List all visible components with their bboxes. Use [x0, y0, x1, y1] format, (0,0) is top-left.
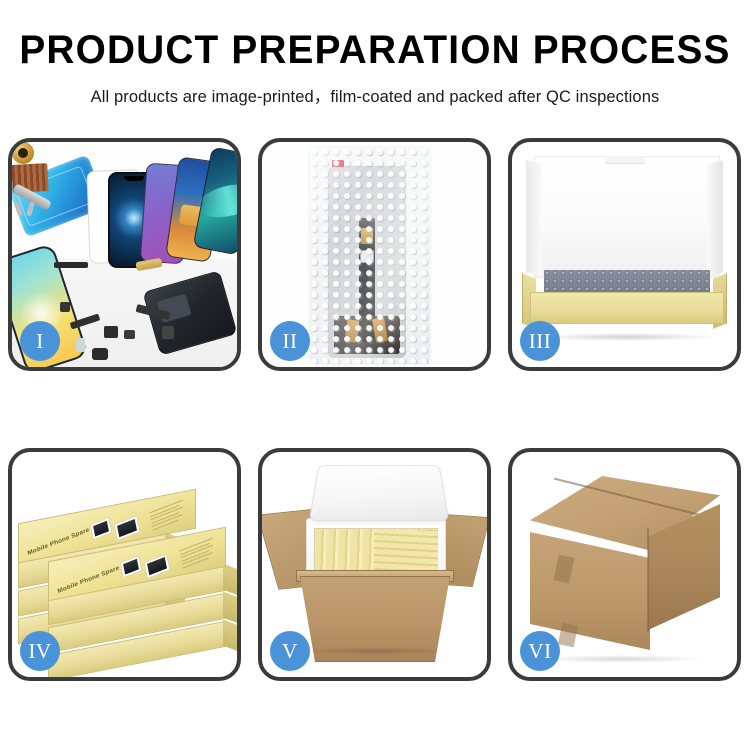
step-badge-5: V [270, 631, 310, 671]
product-preparation-page: PRODUCT PREPARATION PROCESS All products… [0, 0, 750, 750]
box-window-right [144, 553, 171, 579]
process-step-panel-1[interactable]: I [8, 138, 241, 371]
box-window-left [120, 555, 143, 579]
yellow-box-tray [530, 292, 724, 324]
vibration-motor-part [12, 142, 34, 164]
page-subtitle: All products are image-printed，film-coat… [0, 83, 750, 107]
box-spec-lines [149, 498, 190, 533]
connector-part [162, 326, 174, 339]
box-shadow [536, 333, 718, 341]
box-window-left [90, 517, 113, 541]
carton-shadow [302, 647, 450, 655]
process-step-panel-6[interactable]: VI [508, 448, 741, 681]
camera-module-part [104, 326, 118, 338]
process-steps-grid: I II [8, 138, 742, 681]
page-header: PRODUCT PREPARATION PROCESS All products… [0, 0, 750, 107]
button-part [60, 302, 70, 312]
box-spec-lines [179, 536, 220, 571]
bracket-part [92, 348, 108, 360]
carton-tape-lower [558, 623, 578, 648]
yellow-boxes-row-back [374, 530, 438, 575]
page-title: PRODUCT PREPARATION PROCESS [11, 30, 739, 70]
speaker-part [124, 330, 135, 339]
box-lid-right-flap [707, 160, 723, 275]
step-badge-2: II [270, 321, 310, 361]
process-step-panel-4[interactable]: Mobile Phone Spare Parts Mobile Phone Sp… [8, 448, 241, 681]
step-badge-1: I [20, 321, 60, 361]
bubble-wrap-bag [310, 148, 430, 364]
plastic-sheen [310, 148, 430, 364]
box-window-right [114, 515, 141, 541]
box-lid-left-flap [526, 160, 542, 275]
carton-vertical-edge [647, 528, 649, 632]
box-lid-panel [534, 156, 720, 278]
foam-cooler-lid [309, 465, 450, 521]
flex-cable-part [54, 262, 88, 268]
process-step-panel-5[interactable]: V [258, 448, 491, 681]
sim-tray-part [76, 338, 85, 352]
process-step-panel-2[interactable]: II [258, 138, 491, 371]
step-badge-3: III [520, 321, 560, 361]
process-step-panel-3[interactable]: III [508, 138, 741, 371]
step-badge-4: IV [20, 631, 60, 671]
step-badge-6: VI [520, 631, 560, 671]
box-lid-notch [605, 156, 645, 164]
carton-shadow [536, 655, 706, 663]
